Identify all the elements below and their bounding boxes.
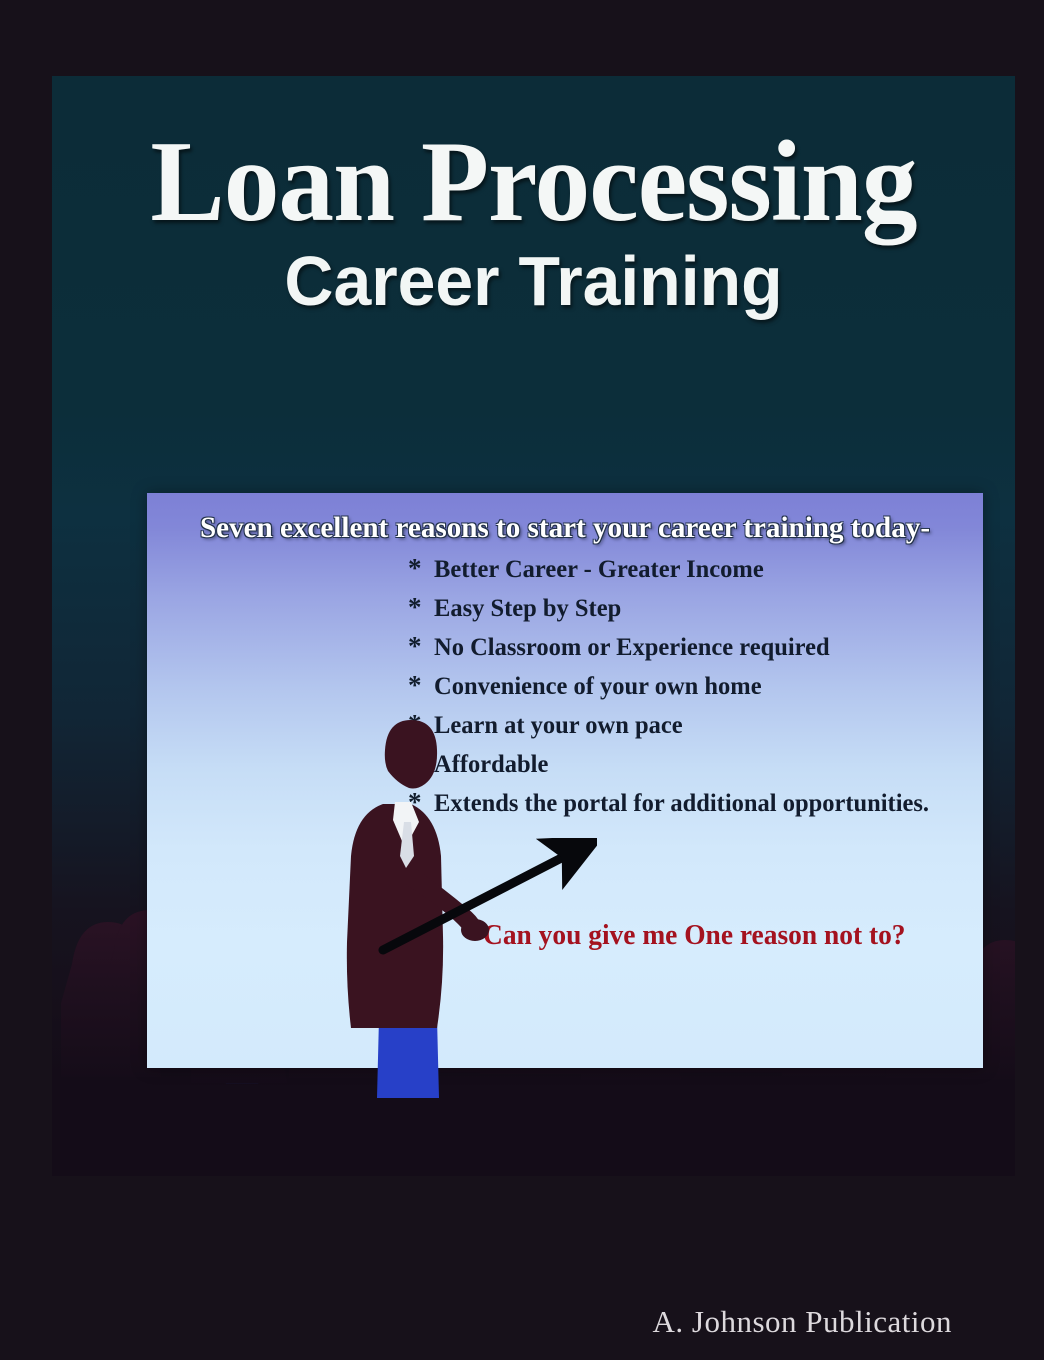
- slide-headline: Seven excellent reasons to start your ca…: [160, 511, 971, 545]
- book-subtitle: Career Training: [66, 240, 1000, 316]
- lecture-room-panel: Loan Processing Career Training: [52, 76, 1015, 1176]
- asterisk-icon: *: [408, 555, 434, 582]
- projection-screen: Seven excellent reasons to start your ca…: [147, 493, 983, 1068]
- presenter-silhouette: [339, 718, 489, 1098]
- asterisk-icon: *: [408, 672, 434, 699]
- slide-call-to-action: Can you give me One reason not to?: [483, 920, 906, 952]
- asterisk-icon: *: [408, 594, 434, 621]
- publisher-credit: A. Johnson Publication: [0, 1304, 1044, 1340]
- list-item-label: No Classroom or Experience required: [434, 634, 830, 662]
- list-item: * Learn at your own pace: [147, 711, 983, 750]
- presenter-trousers: [377, 1018, 439, 1098]
- presenter-hand: [461, 919, 489, 941]
- list-item-label: Extends the portal for additional opport…: [434, 790, 929, 818]
- list-item-label: Convenience of your own home: [434, 673, 762, 701]
- slide-bullet-list: * Better Career - Greater Income * Easy …: [147, 555, 983, 828]
- book-cover: Loan Processing Career Training: [0, 0, 1044, 1360]
- list-item: * Extends the portal for additional oppo…: [147, 789, 983, 828]
- title-block: Loan Processing Career Training: [52, 76, 1015, 316]
- list-item: * Affordable: [147, 750, 983, 789]
- presenter-jacket: [347, 804, 443, 1028]
- list-item-label: Easy Step by Step: [434, 595, 621, 623]
- list-item: * Better Career - Greater Income: [147, 555, 983, 594]
- presenter-head: [385, 720, 437, 789]
- list-item: * Convenience of your own home: [147, 672, 983, 711]
- list-item: * No Classroom or Experience required: [147, 633, 983, 672]
- list-item-label: Better Career - Greater Income: [434, 556, 764, 584]
- book-title: Loan Processing: [71, 76, 995, 240]
- asterisk-icon: *: [408, 633, 434, 660]
- list-item: * Easy Step by Step: [147, 594, 983, 633]
